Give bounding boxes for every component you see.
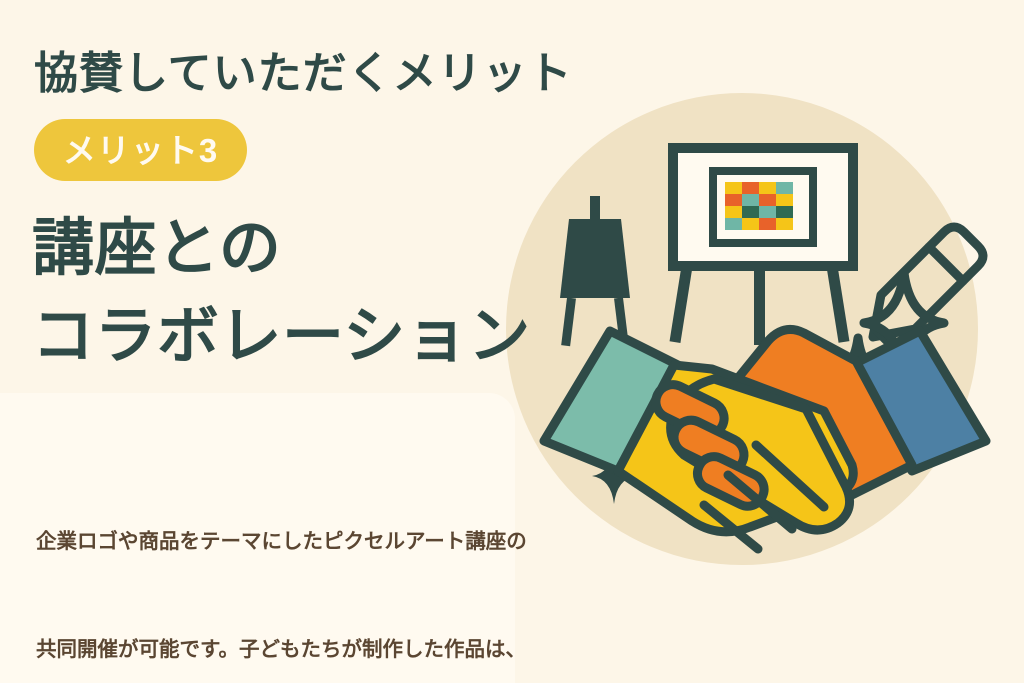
handshake-icon [544, 329, 986, 549]
page-title: 講座との コラボレーション [32, 205, 531, 381]
slide-canvas: 協賛していただくメリット メリット3 講座との コラボレーション 企業ロゴや商品… [0, 0, 1024, 683]
illustration [506, 93, 1024, 593]
eyebrow-heading: 協賛していただくメリット [34, 37, 573, 101]
merit-badge-label: メリット3 [63, 134, 218, 167]
easel-icon [560, 196, 630, 346]
body-line: 共同開催が可能です。子どもたちが制作した作品は、 [36, 632, 751, 668]
pixel-art-grid [725, 182, 793, 230]
framed-pixel-art [668, 143, 858, 345]
merit-badge: メリット3 [34, 119, 247, 181]
